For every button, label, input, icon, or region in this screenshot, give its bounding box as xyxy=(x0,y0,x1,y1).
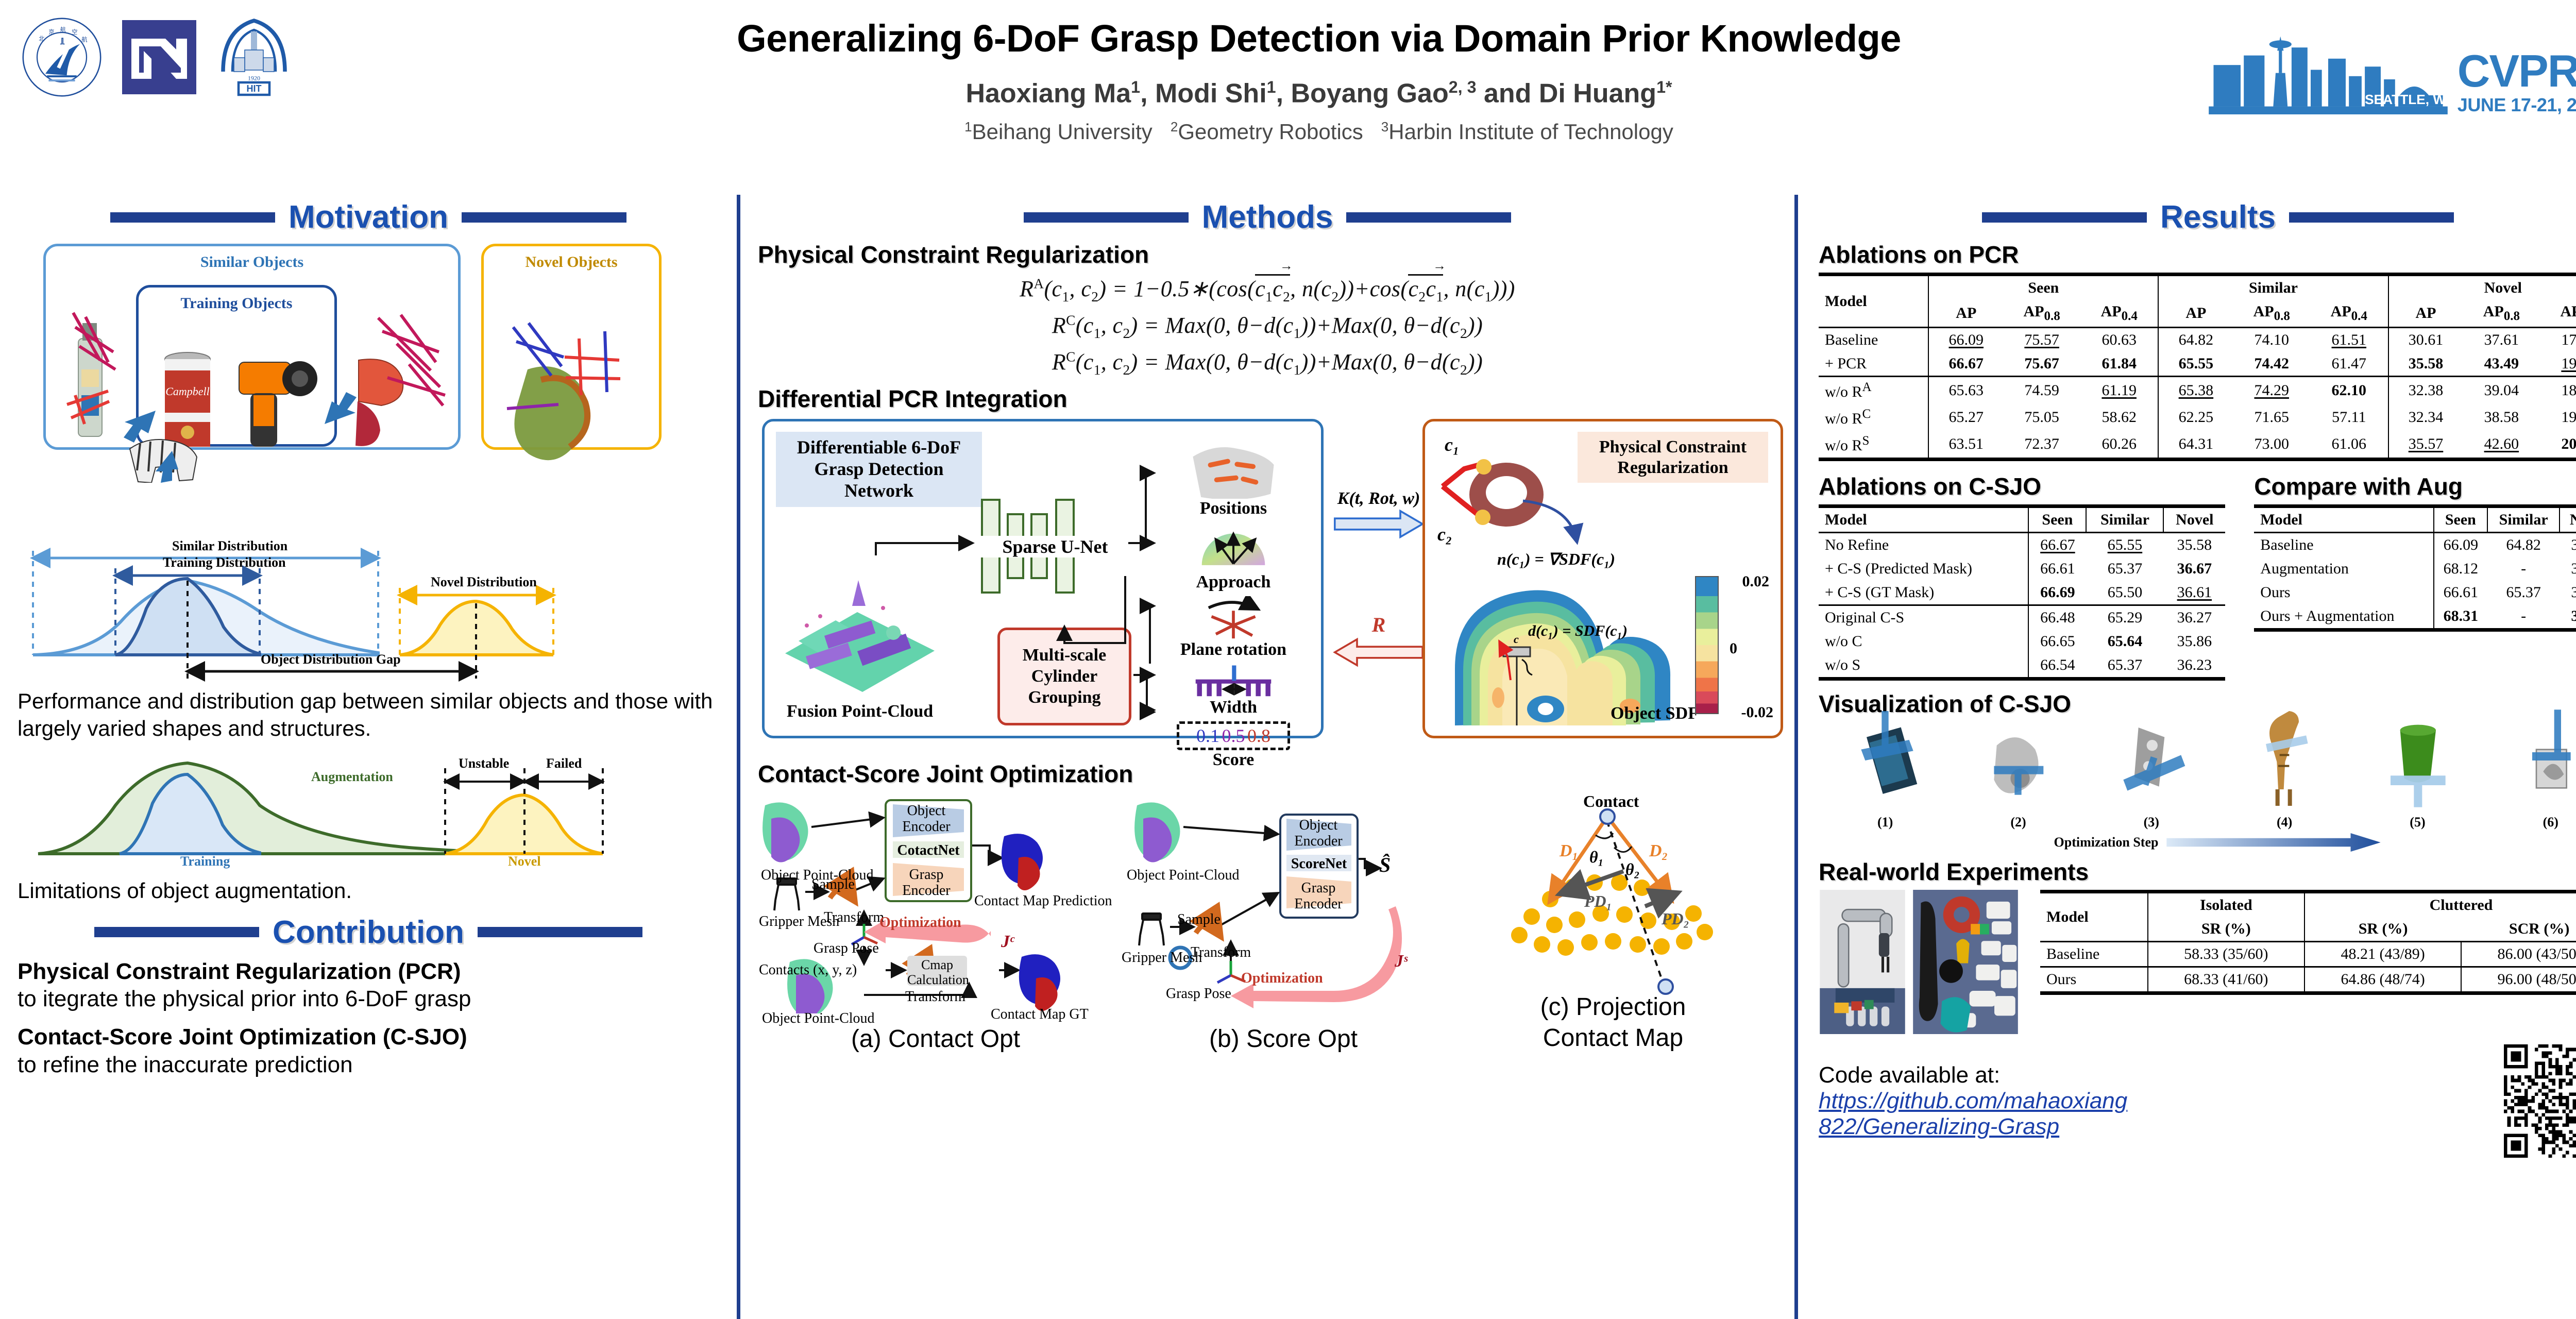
th-group-novel: Novel xyxy=(2388,275,2576,300)
pcr-diagram-box: Physical Constraint Regularization c₁ c₂ xyxy=(1422,419,1783,738)
cell-value: 61.06 xyxy=(2310,431,2388,460)
contact-map-prediction-label: Contact Map Prediction xyxy=(974,893,1112,909)
cell-value: 86.00 (43/50) xyxy=(2461,942,2576,967)
cell-model: Augmentation xyxy=(2254,557,2433,581)
cell-value: 30.61 xyxy=(2560,533,2576,557)
contact-point-label: Contact xyxy=(1583,792,1639,811)
section-rule-left xyxy=(1024,212,1189,223)
sparse-unet-label: Sparse U-Net xyxy=(975,536,1136,557)
table-row: No Refine66.6765.5535.58 xyxy=(1819,533,2225,557)
grasped-object-6-icon xyxy=(2512,707,2576,810)
section-rule-left xyxy=(110,212,275,223)
th-novel: Novel xyxy=(2163,506,2225,533)
code-url-line-2[interactable]: 822/Generalizing-Grasp xyxy=(1819,1114,2480,1140)
cell-value: 65.37 xyxy=(2086,653,2163,679)
table-ablations-csjo: Model Seen Similar Novel No Refine66.676… xyxy=(1819,504,2225,681)
cell-value: 20.45 xyxy=(2540,431,2576,460)
cell-value: 36.27 xyxy=(2163,605,2225,630)
cell-value: 32.30 xyxy=(2560,557,2576,581)
cell-model: + PCR xyxy=(1819,352,1928,377)
subsection-dpcr: Differential PCR Integration xyxy=(758,385,1777,413)
cell-model: Ours xyxy=(2040,967,2148,993)
cell-value: 68.31 xyxy=(2434,604,2488,630)
cotactnet-label: CotactNet xyxy=(893,842,964,859)
cell-value: 73.00 xyxy=(2233,431,2310,460)
cell-value: - xyxy=(2487,604,2560,630)
novel-distribution-label: Novel Distribution xyxy=(431,574,537,590)
author-list: Haoxiang Ma1, Modi Shi1, Boyang Gao2, 3 … xyxy=(361,78,2277,109)
robot-arm-photo xyxy=(1819,890,1906,1034)
results-two-tables: Ablations on C-SJO Model Seen Similar No… xyxy=(1819,467,2576,681)
cell-model: Ours xyxy=(2254,581,2433,604)
th-seen: Seen xyxy=(2028,506,2086,533)
th-cluttered: Cluttered xyxy=(2304,892,2576,918)
table-row: w/o S66.5465.3736.23 xyxy=(1819,653,2225,679)
cell-value: 61.84 xyxy=(2080,352,2158,377)
th-similar: Similar xyxy=(2487,506,2560,533)
vis-item-4: (4) xyxy=(2246,707,2323,830)
grasp-network-box: Differentiable 6-DoF Grasp Detection Net… xyxy=(762,419,1324,738)
cell-value: 65.64 xyxy=(2086,630,2163,653)
svg-text:1920: 1920 xyxy=(248,75,260,82)
grasped-object-1-icon xyxy=(1846,707,1924,810)
transfer-block: K(t, Rot, w) xyxy=(1330,489,1428,542)
equation-rc-2: RC(c1, c2) = Max(0, θ−d(c1))+Max(0, θ−d(… xyxy=(758,349,1777,378)
grasped-object-2-icon xyxy=(1979,707,2057,810)
svg-text:京: 京 xyxy=(48,28,54,36)
cell-value: 48.21 (43/89) xyxy=(2304,942,2461,967)
hit-logo: 1920 HIT xyxy=(215,14,293,99)
equation-rc-1: RC(c1, c2) = Max(0, θ−d(c1))+Max(0, θ−d(… xyxy=(758,312,1777,342)
motivation-caption-2: Limitations of object augmentation. xyxy=(18,877,719,905)
sdf-colorbar xyxy=(1695,576,1719,714)
distribution-gap-chart: Similar Distribution Training Distributi… xyxy=(18,531,719,686)
table-body-compare-aug: Baseline66.0964.8230.61Augmentation68.12… xyxy=(2254,533,2576,630)
csjo-c-caption-2: Contact Map xyxy=(1453,1025,1773,1052)
th-novel: Novel xyxy=(2560,506,2576,533)
table-header-row: Model Seen Similar Novel xyxy=(1819,275,2576,300)
th-ap08-seen: AP0.8 xyxy=(2003,300,2080,328)
cell-value: 74.59 xyxy=(2003,377,2080,404)
page-title: Generalizing 6-DoF Grasp Detection via D… xyxy=(361,18,2277,60)
table-row: + PCR66.6775.6761.8465.5574.4261.4735.58… xyxy=(1819,352,2576,377)
cell-value: 65.63 xyxy=(1928,377,2003,404)
sample-label-b: Sample xyxy=(1177,911,1221,928)
svg-text:SEATTLE, WA: SEATTLE, WA xyxy=(2365,92,2449,107)
section-header-methods: Methods xyxy=(758,199,1777,235)
table-ablations-pcr: Model Seen Similar Novel AP AP0.8 AP0.4 … xyxy=(1819,273,2576,461)
svg-text:c: c xyxy=(1514,633,1519,646)
cell-model: Baseline xyxy=(2254,533,2433,557)
optimization-step-label: Optimization Step xyxy=(2054,835,2159,850)
distance-equation-label: d(c₁) = SDF(c₁) xyxy=(1528,622,1628,640)
poster-body: Motivation Similar Objects Training Obje… xyxy=(0,195,2576,1319)
cell-value: 35.58 xyxy=(2388,352,2463,377)
output-approach-label: Approach xyxy=(1156,572,1311,592)
transform-label-b: Transform xyxy=(1191,944,1251,961)
csjo-contact-opt: Object Point-Cloud Gripper Mesh Sample T… xyxy=(758,792,1113,1065)
similar-distribution-label: Similar Distribution xyxy=(172,538,287,554)
cell-value: 36.67 xyxy=(2163,557,2225,581)
cell-model: + C-S (Predicted Mask) xyxy=(1819,557,2028,581)
th-model: Model xyxy=(2254,506,2433,533)
cell-value: 30.61 xyxy=(2388,328,2463,352)
score-value-1: 0.1 xyxy=(1196,725,1219,746)
th-group-seen: Seen xyxy=(1928,275,2158,300)
th-model: Model xyxy=(1819,275,1928,328)
svg-text:HIT: HIT xyxy=(247,83,262,94)
cvpr-logo: SEATTLE, WA CVPR JUNE 17-21, 2024 xyxy=(2207,27,2576,114)
csjo-score-opt: Object Point-Cloud Gripper Mesh Sample T… xyxy=(1118,792,1448,1065)
plane-rotation-icon xyxy=(1190,596,1277,640)
vis-caption-5: (5) xyxy=(2379,815,2456,830)
section-rule-right xyxy=(2289,212,2454,223)
table-row: Baseline58.33 (35/60)48.21 (43/89)86.00 … xyxy=(2040,942,2576,967)
svg-text:空: 空 xyxy=(72,28,77,36)
code-available-label: Code available at: xyxy=(1819,1062,2480,1088)
section-rule-left xyxy=(94,927,259,937)
cell-value: 71.65 xyxy=(2233,404,2310,431)
th-ap-seen: AP xyxy=(1928,300,2003,328)
grasp-encoder-label-b: Grasp Encoder xyxy=(1287,881,1349,912)
contribution-2-desc: to refine the inaccurate prediction xyxy=(18,1051,719,1079)
multiscale-cylinder-grouping-box: Multi-scale Cylinder Grouping xyxy=(997,628,1131,725)
sample-label-a: Sample xyxy=(811,876,855,893)
th-sr-cluttered: SR (%) xyxy=(2304,917,2461,942)
vis-caption-2: (2) xyxy=(1979,815,2057,830)
cmap-calculation-label: Cmap Calculation xyxy=(907,958,967,987)
gripper-mesh-label-b: Gripper Mesh xyxy=(1122,950,1202,966)
cell-model: w/o RA xyxy=(1819,377,1928,404)
th-group-similar: Similar xyxy=(2158,275,2388,300)
cell-value: 65.37 xyxy=(2487,581,2560,604)
score-output-label: Ŝ xyxy=(1379,853,1391,877)
output-plane-rotation-label: Plane rotation xyxy=(1156,640,1311,659)
cell-value: 66.69 xyxy=(2028,581,2086,605)
cvpr-dates: JUNE 17-21, 2024 xyxy=(2458,96,2576,114)
table-header-row: Model Seen Similar Novel xyxy=(1819,506,2225,533)
vis-caption-1: (1) xyxy=(1846,815,1924,830)
visualization-row: (1) (2) (3) xyxy=(1819,722,2576,830)
cell-value: 62.10 xyxy=(2310,377,2388,404)
contacts-label: Contacts (x, y, z) xyxy=(759,962,857,978)
cell-value: 58.62 xyxy=(2080,404,2158,431)
cvpr-name: CVPR xyxy=(2458,48,2576,94)
real-world-photos xyxy=(1819,890,2020,1034)
th-similar: Similar xyxy=(2086,506,2163,533)
colorbar-mid-label: 0 xyxy=(1730,640,1737,657)
training-distribution-label: Training Distribution xyxy=(163,555,286,570)
contribution-2-title: Contact-Score Joint Optimization (C-SJO) xyxy=(18,1023,719,1051)
pd2-label: PD₂ xyxy=(1662,909,1689,928)
dpcr-diagram: Differentiable 6-DoF Grasp Detection Net… xyxy=(758,417,1777,757)
feedback-arrow-icon xyxy=(1332,637,1425,668)
table-row: Original C-S66.4865.2936.27 xyxy=(1819,605,2225,630)
motivation-objects-art: Campbell xyxy=(18,241,718,483)
network-outputs: Positions Approach xyxy=(1156,442,1311,770)
th-ap-similar: AP xyxy=(2158,300,2233,328)
code-url-line-1[interactable]: https://github.com/mahaoxiang xyxy=(1819,1088,2480,1114)
cell-model: w/o S xyxy=(1819,653,2028,679)
th-model: Model xyxy=(1819,506,2028,533)
cell-value: 37.61 xyxy=(2463,328,2540,352)
th-seen: Seen xyxy=(2434,506,2488,533)
subsection-real-world: Real-world Experiments xyxy=(1819,858,2576,886)
cell-value: 65.38 xyxy=(2158,377,2233,404)
th-sr-isolated: SR (%) xyxy=(2148,917,2304,942)
transform-label-a2: Transform xyxy=(905,989,965,1005)
cell-model: w/o RS xyxy=(1819,431,1928,460)
table-row: w/o RC65.2775.0558.6262.2571.6557.1132.3… xyxy=(1819,404,2576,431)
cell-value: 35.58 xyxy=(2163,533,2225,557)
th-ap04-similar: AP0.4 xyxy=(2310,300,2388,328)
cell-value: 36.23 xyxy=(2163,653,2225,679)
cell-value: 66.61 xyxy=(2028,557,2086,581)
th-scr-cluttered: SCR (%) xyxy=(2461,917,2576,942)
cell-model: w/o RC xyxy=(1819,404,1928,431)
table-row: Augmentation68.12-32.30 xyxy=(2254,557,2576,581)
motivation-caption-1: Performance and distribution gap between… xyxy=(18,688,719,742)
th-ap08-similar: AP0.8 xyxy=(2233,300,2310,328)
cell-value: 60.63 xyxy=(2080,328,2158,352)
theta2-label: θ₂ xyxy=(1625,860,1640,879)
cell-model: Ours + Augmentation xyxy=(2254,604,2433,630)
grasped-object-3-icon xyxy=(2113,707,2190,810)
output-width-label: Width xyxy=(1156,698,1311,717)
cell-model: No Refine xyxy=(1819,533,2028,557)
object-encoder-label-b: Object Encoder xyxy=(1287,818,1349,850)
qr-code-icon xyxy=(2504,1044,2576,1158)
cell-value: 62.25 xyxy=(2158,404,2233,431)
cell-value: 75.67 xyxy=(2003,352,2080,377)
cell-value: 63.51 xyxy=(1928,431,2003,460)
pd1-label: PD₁ xyxy=(1584,892,1612,911)
vis-caption-3: (3) xyxy=(2113,815,2190,830)
table-compare-aug: Model Seen Similar Novel Baseline66.0964… xyxy=(2254,504,2576,632)
cell-value: 65.55 xyxy=(2158,352,2233,377)
vis-item-2: (2) xyxy=(1979,707,2057,830)
section-rule-left xyxy=(1982,212,2147,223)
colorbar-min-label: -0.02 xyxy=(1741,704,1774,721)
vis-item-6: (6) xyxy=(2512,707,2576,830)
table-row: w/o RA65.6374.5961.1965.3874.2962.1032.3… xyxy=(1819,377,2576,404)
vis-caption-6: (6) xyxy=(2512,815,2576,830)
pcr-box-title: Physical Constraint Regularization xyxy=(1578,432,1768,483)
width-icon xyxy=(1184,663,1282,698)
d1-label: D₁ xyxy=(1560,841,1578,861)
output-score-label: Score xyxy=(1156,750,1311,770)
svg-text:北: 北 xyxy=(39,36,44,42)
optimization-label-b: Optimization xyxy=(1241,970,1323,987)
object-sdf-label: Object SDF xyxy=(1611,704,1699,723)
vis-item-5: (5) xyxy=(2379,707,2456,830)
cell-value: 64.82 xyxy=(2487,533,2560,557)
cell-model: + C-S (GT Mask) xyxy=(1819,581,2028,605)
table-row: w/o C66.6565.6435.86 xyxy=(1819,630,2225,653)
cell-value: 66.65 xyxy=(2028,630,2086,653)
cell-value: 32.38 xyxy=(2388,377,2463,404)
normal-equation-label: n(c₁) = ∇SDF(c₁) xyxy=(1497,549,1615,569)
th-ap04-seen: AP0.4 xyxy=(2080,300,2158,328)
csjo-a-caption: (a) Contact Opt xyxy=(758,1025,1113,1053)
csjo-diagrams: Object Point-Cloud Gripper Mesh Sample T… xyxy=(758,792,1777,1065)
cell-value: 75.57 xyxy=(2003,328,2080,352)
cell-value: 65.37 xyxy=(2086,557,2163,581)
table-header-row: Model Seen Similar Novel xyxy=(2254,506,2576,533)
output-positions-label: Positions xyxy=(1156,499,1311,518)
unstable-region-label: Unstable xyxy=(459,756,509,771)
score-value-3: 0.8 xyxy=(1247,725,1270,746)
buaa-logo: 北京 航空航 xyxy=(21,16,103,98)
cell-value: 66.67 xyxy=(2028,533,2086,557)
cell-value: 66.09 xyxy=(1928,328,2003,352)
cell-value: 64.31 xyxy=(2158,431,2233,460)
affiliation-list: 1Beihang University 2Geometry Robotics 3… xyxy=(361,119,2277,144)
feedback-block: R xyxy=(1330,613,1428,670)
fusion-point-cloud-label: Fusion Point-Cloud xyxy=(775,702,945,721)
section-rule-right xyxy=(1346,212,1511,223)
cell-value: 60.26 xyxy=(2080,431,2158,460)
novel-curve-label: Novel xyxy=(508,854,541,869)
section-rule-right xyxy=(462,212,626,223)
title-block: Generalizing 6-DoF Grasp Detection via D… xyxy=(361,18,2277,144)
table-row: + C-S (GT Mask)66.6965.5036.61 xyxy=(1819,581,2225,605)
code-availability: Code available at: https://github.com/ma… xyxy=(1819,1044,2576,1158)
transfer-label: K(t, Rot, w) xyxy=(1330,489,1428,509)
subsection-ablations-csjo: Ablations on C-SJO xyxy=(1819,472,2225,500)
cell-value: 19.70 xyxy=(2540,352,2576,377)
table-row: Ours68.33 (41/60)64.86 (48/74)96.00 (48/… xyxy=(2040,967,2576,993)
failed-region-label: Failed xyxy=(546,756,582,771)
augmentation-curve-label: Augmentation xyxy=(311,769,393,785)
table-subheader-row: AP AP0.8 AP0.4 AP AP0.8 AP0.4 AP AP0.8 A… xyxy=(1819,300,2576,328)
cell-value: 75.05 xyxy=(2003,404,2080,431)
vis-item-1: (1) xyxy=(1846,707,1924,830)
motivation-objects-figure: Similar Objects Training Objects Novel O… xyxy=(18,241,719,529)
approach-icon xyxy=(1192,523,1275,572)
cell-value: 18.88 xyxy=(2540,377,2576,404)
optimization-label-a: Optimization xyxy=(879,915,961,931)
contact-map-gt-label: Contact Map GT xyxy=(991,1006,1089,1023)
cell-model: w/o C xyxy=(1819,630,2028,653)
cell-value: 58.33 (35/60) xyxy=(2148,942,2304,967)
feedback-label: R xyxy=(1330,613,1428,637)
svg-text:航: 航 xyxy=(60,26,66,33)
cell-value: 32.34 xyxy=(2388,404,2463,431)
svg-text:航: 航 xyxy=(81,36,87,43)
column-left: Motivation Similar Objects Training Obje… xyxy=(0,195,737,1319)
section-header-contribution: Contribution xyxy=(18,914,719,951)
optimization-step-arrow-icon xyxy=(2165,833,2382,852)
th-ap04-novel: AP0.4 xyxy=(2540,300,2576,328)
column-middle: Methods Physical Constraint Regularizati… xyxy=(737,195,1798,1319)
section-header-motivation: Motivation xyxy=(18,199,719,235)
cell-value: 43.49 xyxy=(2463,352,2540,377)
vis-item-3: (3) xyxy=(2113,707,2190,830)
cell-value: 64.86 (48/74) xyxy=(2304,967,2461,993)
table-ablations-pcr-wrap: Model Seen Similar Novel AP AP0.8 AP0.4 … xyxy=(1819,273,2576,461)
cell-value: 36.61 xyxy=(2163,581,2225,605)
cell-value: 74.10 xyxy=(2233,328,2310,352)
section-title-results: Results xyxy=(2160,199,2276,235)
cell-value: 57.11 xyxy=(2310,404,2388,431)
theta1-label: θ₁ xyxy=(1589,848,1604,867)
network-title: Differentiable 6-DoF Grasp Detection Net… xyxy=(776,432,982,506)
object-distribution-gap-label: Object Distribution Gap xyxy=(261,652,401,667)
score-value-2: 0.5 xyxy=(1222,725,1245,746)
cell-value: 74.29 xyxy=(2233,377,2310,404)
table-row: + C-S (Predicted Mask)66.6165.3736.67 xyxy=(1819,557,2225,581)
cell-value: 19.27 xyxy=(2540,404,2576,431)
vis-caption-4: (4) xyxy=(2246,815,2323,830)
th-ap-novel: AP xyxy=(2388,300,2463,328)
cell-value: 35.86 xyxy=(2163,630,2225,653)
cell-value: 42.60 xyxy=(2463,431,2540,460)
csjo-projection-map: Contact D₁ D₂ θ₁ θ₂ PD₁ PD₂ (c) Projecti… xyxy=(1453,792,1773,1065)
pcr-equations: RA(c1, c2) = 1−0.5∗(cos(c1c2, n(c2))+cos… xyxy=(758,276,1777,378)
cell-value: 65.29 xyxy=(2086,605,2163,630)
ablations-csjo-block: Ablations on C-SJO Model Seen Similar No… xyxy=(1819,467,2225,681)
projection-map-art xyxy=(1453,792,1773,1013)
cell-value: 66.67 xyxy=(1928,352,2003,377)
cell-value: 61.51 xyxy=(2310,328,2388,352)
real-world-table-wrap: Model Isolated Cluttered SR (%) SR (%) S… xyxy=(2040,890,2576,995)
cell-value: 72.37 xyxy=(2003,431,2080,460)
colorbar-max-label: 0.02 xyxy=(1742,573,1770,590)
grasp-encoder-label-a: Grasp Encoder xyxy=(893,867,960,899)
contact-c2-label: c₂ xyxy=(1437,523,1452,545)
cell-value: 38.58 xyxy=(2463,404,2540,431)
fusion-point-cloud-image xyxy=(775,550,945,700)
cell-value: 68.33 (41/60) xyxy=(2148,967,2304,993)
grasp-pose-label-b: Grasp Pose xyxy=(1166,986,1231,1002)
cell-value: 96.00 (48/50) xyxy=(2461,967,2576,993)
table-real-world: Model Isolated Cluttered SR (%) SR (%) S… xyxy=(2040,890,2576,995)
cell-value: 35.57 xyxy=(2388,431,2463,460)
table-body-real-world: Baseline58.33 (35/60)48.21 (43/89)86.00 … xyxy=(2040,942,2576,993)
objects-tray-photo xyxy=(1911,890,2020,1034)
column-right: Results Ablations on PCR Model Seen Simi… xyxy=(1798,195,2576,1319)
th-ap08-novel: AP0.8 xyxy=(2463,300,2540,328)
table-row: Ours66.6165.3736.67 xyxy=(2254,581,2576,604)
seattle-skyline-icon: SEATTLE, WA xyxy=(2207,27,2449,114)
optimization-step-axis: Optimization Step xyxy=(1819,833,2576,852)
table-row: Baseline66.0964.8230.61 xyxy=(2254,533,2576,557)
cell-value: 66.54 xyxy=(2028,653,2086,679)
cell-value: 17.06 xyxy=(2540,328,2576,352)
cell-value: 61.19 xyxy=(2080,377,2158,404)
object-encoder-label-a: Object Encoder xyxy=(893,803,960,835)
grasped-object-4-icon xyxy=(2246,707,2323,810)
jacobian-s-label: Jˢ xyxy=(1395,952,1408,971)
equation-ra: RA(c1, c2) = 1−0.5∗(cos(c1c2, n(c2))+cos… xyxy=(758,276,1777,305)
real-world-content: Model Isolated Cluttered SR (%) SR (%) S… xyxy=(1819,890,2576,1034)
score-values: 0.1 0.5 0.8 xyxy=(1177,721,1290,750)
cell-value: 74.42 xyxy=(2233,352,2310,377)
section-rule-right xyxy=(478,927,642,937)
object-sdf-contour: c xyxy=(1445,571,1713,725)
positions-icon xyxy=(1184,442,1282,499)
contribution-1-desc: to itegrate the physical prior into 6-Do… xyxy=(18,985,719,1013)
cell-value: 65.27 xyxy=(1928,404,2003,431)
subsection-visualization: Visualization of C-SJO xyxy=(1819,690,2576,718)
cell-value: 39.04 xyxy=(2463,377,2540,404)
table-header-row: Model Isolated Cluttered xyxy=(2040,892,2576,918)
compare-aug-block: Compare with Aug Model Seen Similar Nove… xyxy=(2254,467,2576,681)
cell-value: 66.09 xyxy=(2434,533,2488,557)
poster-header: 北京 航空航 xyxy=(0,0,2576,196)
grasped-object-5-icon xyxy=(2379,707,2456,810)
